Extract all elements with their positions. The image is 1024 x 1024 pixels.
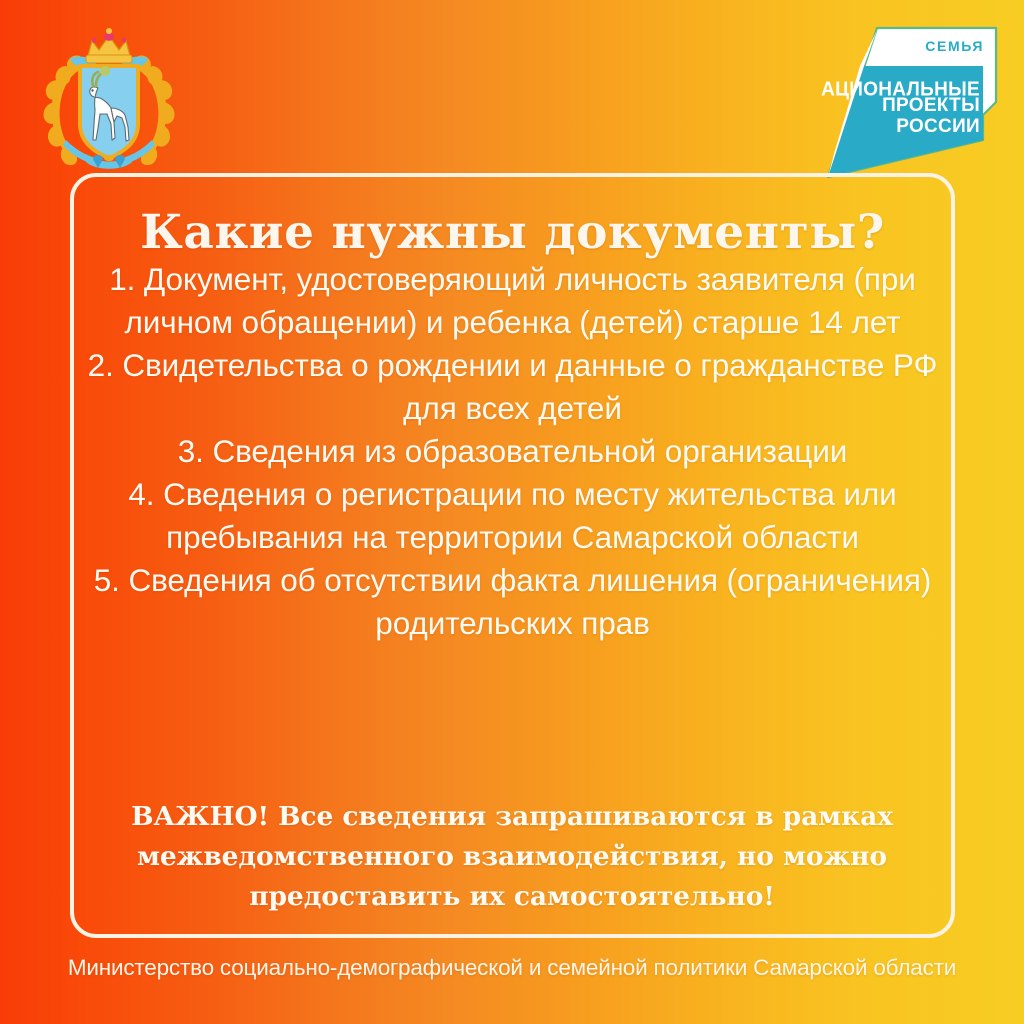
requirements-list: 1. Документ, удостоверяющий личность зая…	[86, 258, 939, 645]
list-item: 2. Свидетельства о рождении и данные о г…	[86, 344, 939, 430]
list-item: 4. Сведения о регистрации по месту жител…	[86, 473, 939, 559]
list-item: 5. Сведения об отсутствии факта лишения …	[86, 559, 939, 645]
poster-root: СЕМЬЯ НАЦИОНАЛЬНЫЕ ПРОЕКТЫ РОССИИ Какие …	[0, 0, 1024, 1024]
list-item: 1. Документ, удостоверяющий личность зая…	[86, 258, 939, 344]
samara-coat-of-arms-emblem	[36, 28, 182, 180]
page-title: Какие нужны документы?	[70, 207, 955, 259]
national-projects-badge: СЕМЬЯ НАЦИОНАЛЬНЫЕ ПРОЕКТЫ РОССИИ	[820, 22, 1024, 182]
badge-semya-label: СЕМЬЯ	[925, 38, 984, 54]
footer-ministry-text: Министерство социально-демографической и…	[0, 953, 1024, 983]
important-note: ВАЖНО! Все сведения запрашиваются в рамк…	[104, 797, 920, 917]
badge-line-2: ПРОЕКТЫ	[882, 95, 980, 116]
badge-line-3: РОССИИ	[896, 116, 980, 137]
list-item: 3. Сведения из образовательной организац…	[86, 430, 939, 473]
